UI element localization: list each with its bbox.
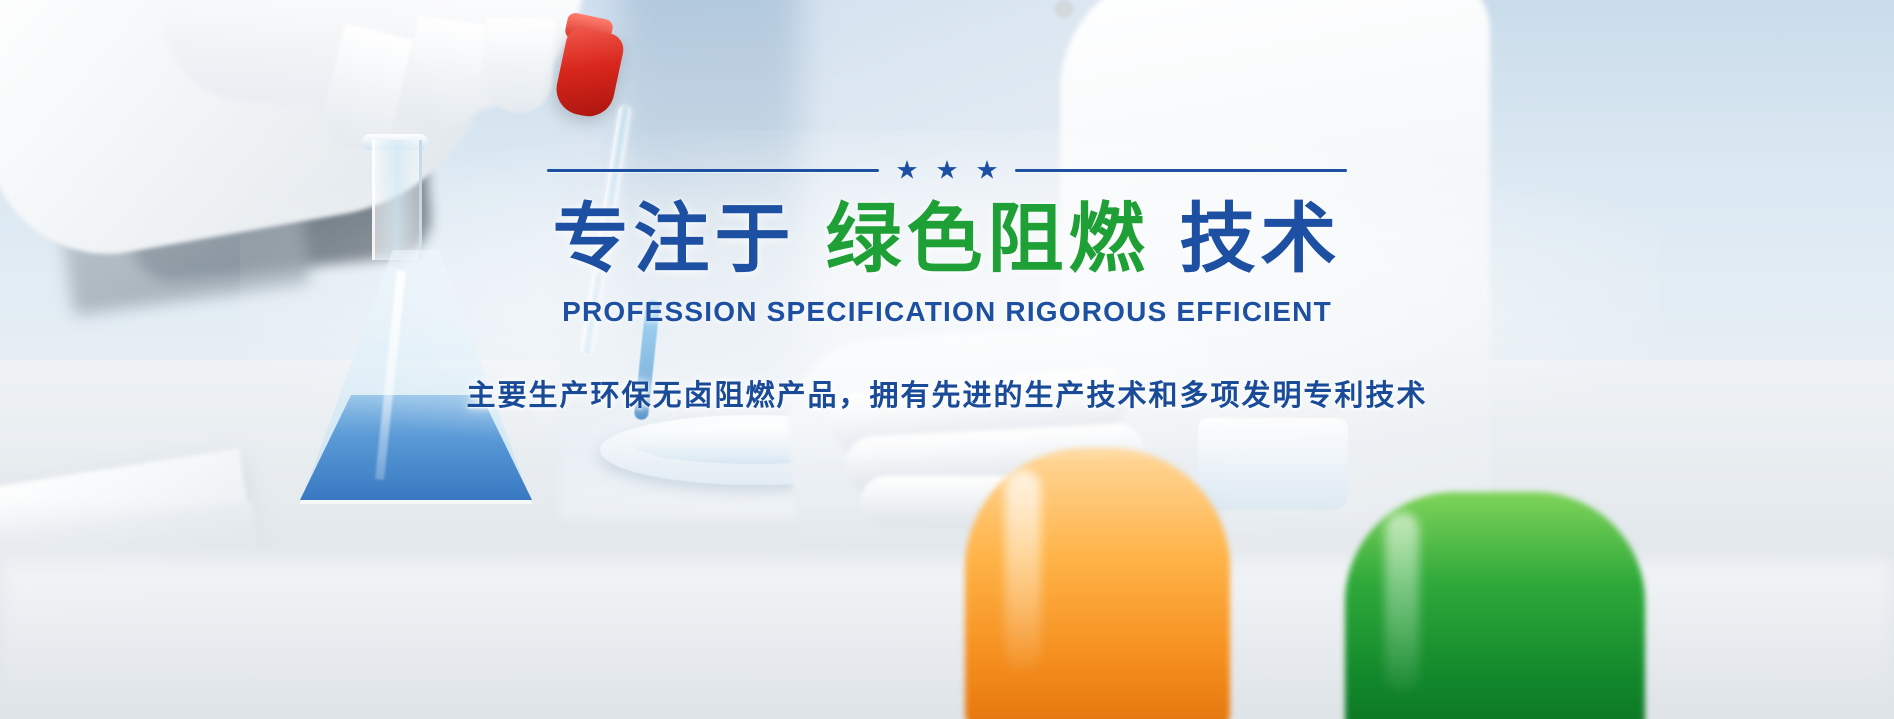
banner-copy: 专注于 绿色阻燃 技术 PROFESSION SPECIFICATION RIG… bbox=[0, 0, 1894, 719]
divider-line-right bbox=[1015, 169, 1347, 172]
star-icon bbox=[937, 160, 957, 180]
star-icon bbox=[897, 160, 917, 180]
headline-part-suffix: 技术 bbox=[1180, 198, 1342, 282]
tagline: 主要生产环保无卤阻燃产品，拥有先进的生产技术和多项发明专利技术 bbox=[466, 372, 1427, 414]
star-icon bbox=[977, 160, 997, 180]
hero-banner: 专注于 绿色阻燃 技术 PROFESSION SPECIFICATION RIG… bbox=[0, 0, 1894, 719]
star-group bbox=[897, 160, 997, 180]
headline-part-primary: 专注于 bbox=[553, 198, 796, 282]
headline: 专注于 绿色阻燃 技术 bbox=[553, 198, 1342, 282]
divider-line-left bbox=[547, 169, 879, 172]
headline-part-highlight: 绿色阻燃 bbox=[826, 198, 1150, 282]
divider-with-stars bbox=[547, 160, 1347, 180]
english-subtitle: PROFESSION SPECIFICATION RIGOROUS EFFICI… bbox=[562, 296, 1332, 328]
